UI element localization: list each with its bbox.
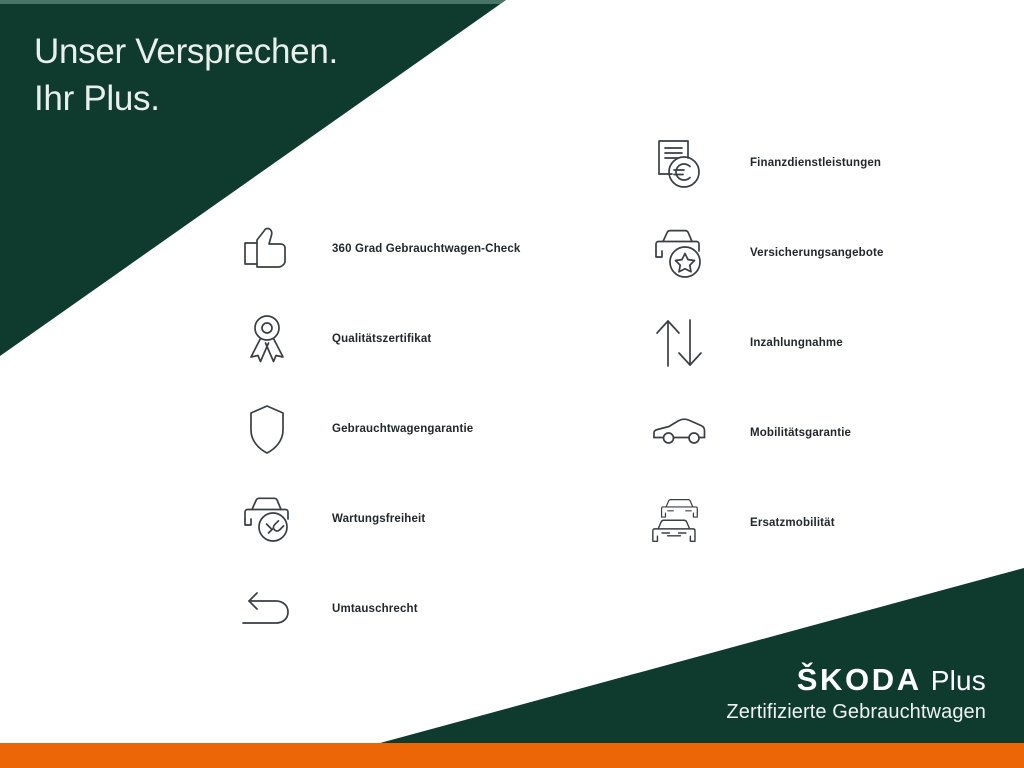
award-rosette-icon — [236, 308, 298, 370]
feature-label: Finanzdienstleistungen — [750, 157, 881, 169]
feature-label: 360 Grad Gebrauchtwagen-Check — [332, 243, 520, 255]
feature-item-maintenance: Wartungsfreiheit — [236, 474, 520, 564]
orange-bottom-bar — [0, 743, 1024, 768]
feature-list-right: Finanzdienstleistungen Versicherungsange… — [648, 118, 884, 568]
feature-label: Versicherungsangebote — [750, 247, 884, 259]
feature-list-left: 360 Grad Gebrauchtwagen-Check Qualitätsz… — [236, 204, 520, 654]
feature-item-mobility-guarantee: Mobilitätsgarantie — [648, 388, 884, 478]
brand-lockup: ŠKODA Plus Zertifizierte Gebrauchtwagen — [726, 664, 986, 722]
brand-tagline: Zertifizierte Gebrauchtwagen — [726, 702, 986, 722]
plus-wordmark: Plus — [931, 667, 986, 695]
car-side-icon — [648, 402, 710, 464]
up-down-arrows-icon — [648, 312, 710, 374]
feature-item-warranty: Gebrauchtwagengarantie — [236, 384, 520, 474]
feature-item-trade-in: Inzahlungnahme — [648, 298, 884, 388]
feature-label: Mobilitätsgarantie — [750, 427, 851, 439]
feature-label: Gebrauchtwagengarantie — [332, 423, 473, 435]
feature-label: Inzahlungnahme — [750, 337, 843, 349]
car-wrench-icon — [236, 488, 298, 550]
feature-label: Umtauschrecht — [332, 603, 418, 615]
promo-banner: Unser Versprechen. Ihr Plus. 360 Grad Ge… — [0, 0, 1024, 768]
feature-item-360-check: 360 Grad Gebrauchtwagen-Check — [236, 204, 520, 294]
green-highlight-top-edge — [0, 0, 506, 4]
document-euro-icon — [648, 132, 710, 194]
feature-item-insurance: Versicherungsangebote — [648, 208, 884, 298]
feature-item-financial-services: Finanzdienstleistungen — [648, 118, 884, 208]
feature-label: Wartungsfreiheit — [332, 513, 425, 525]
return-arrow-icon — [236, 578, 298, 640]
headline-line-1: Unser Versprechen. — [34, 28, 338, 75]
feature-item-quality-certificate: Qualitätszertifikat — [236, 294, 520, 384]
feature-label: Ersatzmobilität — [750, 517, 835, 529]
brand-name-row: ŠKODA Plus — [726, 664, 986, 695]
skoda-wordmark: ŠKODA — [797, 664, 922, 695]
feature-label: Qualitätszertifikat — [332, 333, 431, 345]
thumbs-up-icon — [236, 218, 298, 280]
headline-line-2: Ihr Plus. — [34, 75, 338, 122]
feature-item-replacement-mobility: Ersatzmobilität — [648, 478, 884, 568]
car-star-icon — [648, 222, 710, 284]
shield-icon — [236, 398, 298, 460]
two-cars-icon — [648, 492, 710, 554]
page-title: Unser Versprechen. Ihr Plus. — [34, 28, 338, 122]
feature-item-return-right: Umtauschrecht — [236, 564, 520, 654]
